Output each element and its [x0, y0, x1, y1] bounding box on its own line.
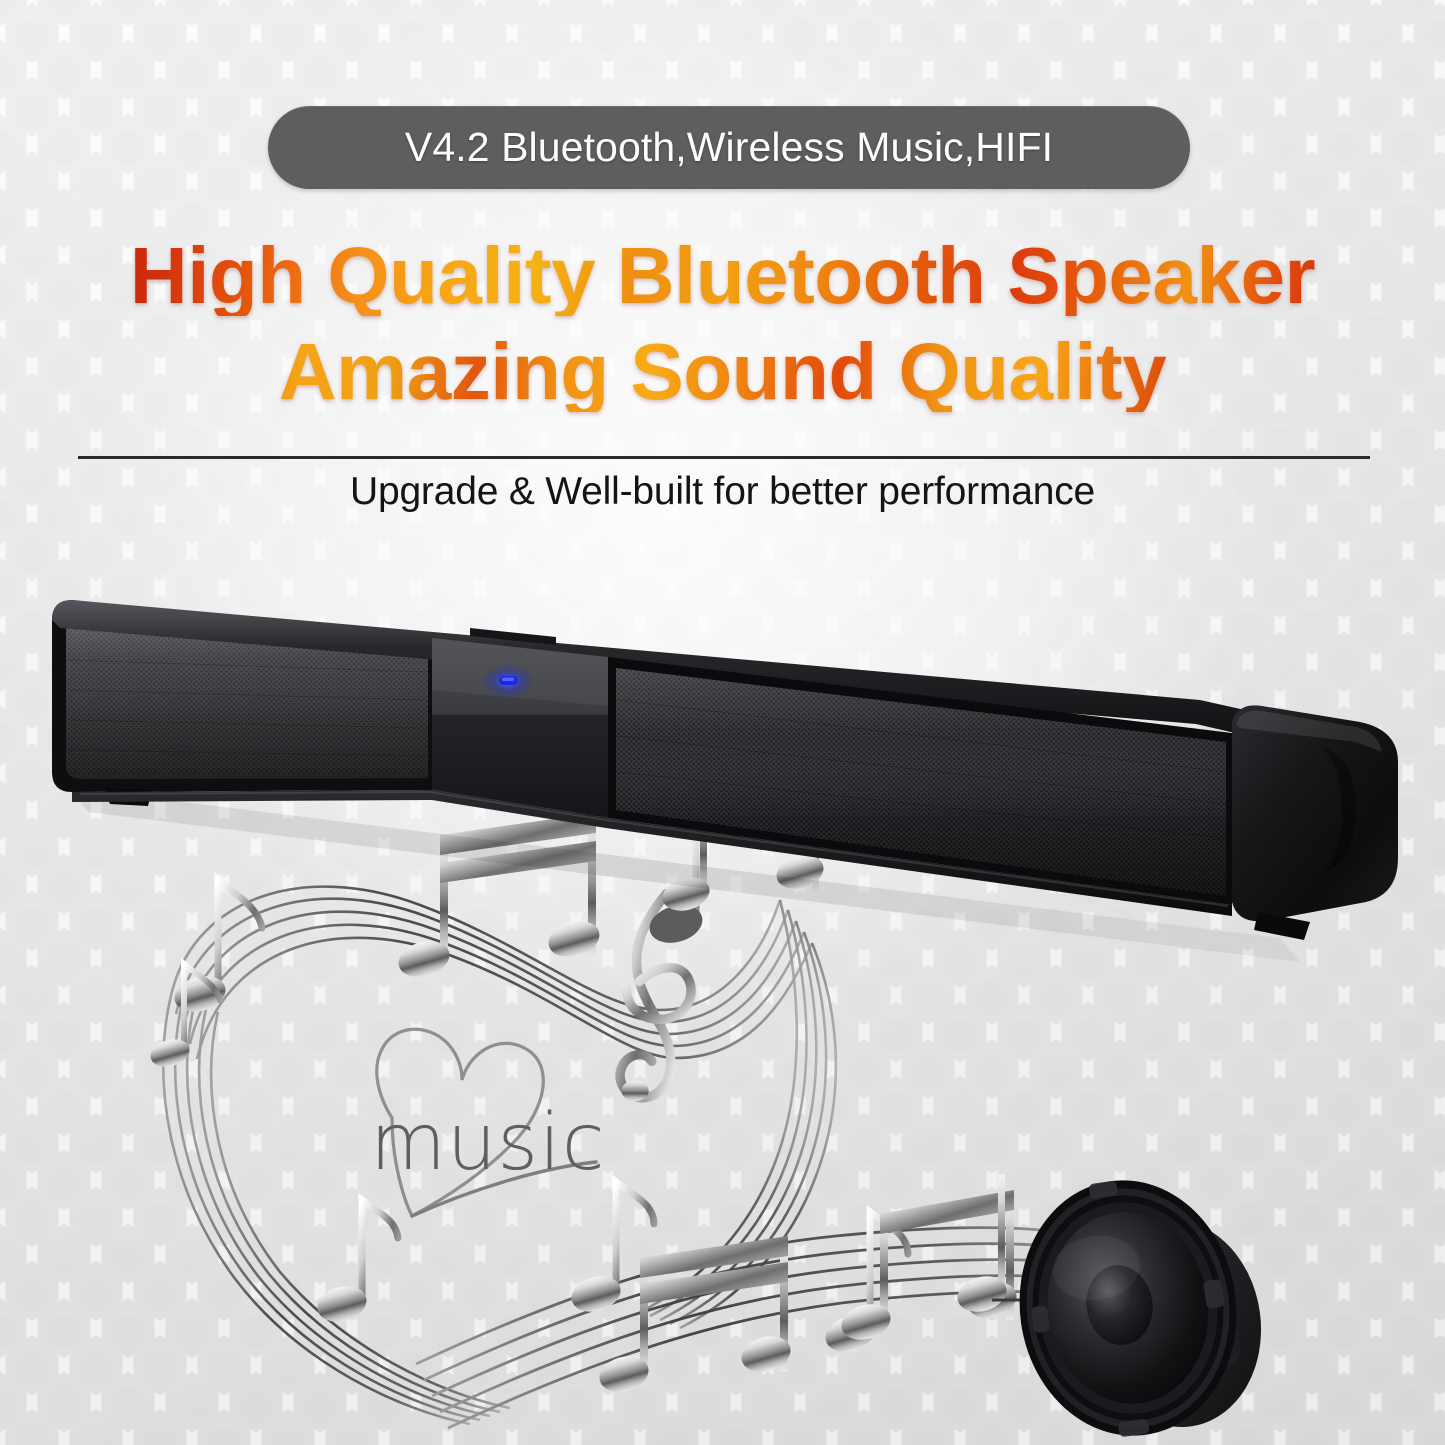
- music-word-label: music: [370, 1104, 606, 1182]
- feature-banner-text: V4.2 Bluetooth,Wireless Music,HIFI: [405, 124, 1053, 171]
- headline-divider: [78, 456, 1370, 459]
- honeycomb-background-overlay: [0, 0, 1445, 1445]
- subtitle-text: Upgrade & Well-built for better performa…: [0, 470, 1445, 514]
- product-marketing-poster: V4.2 Bluetooth,Wireless Music,HIFI High …: [0, 0, 1445, 1445]
- feature-banner-pill: V4.2 Bluetooth,Wireless Music,HIFI: [268, 106, 1190, 189]
